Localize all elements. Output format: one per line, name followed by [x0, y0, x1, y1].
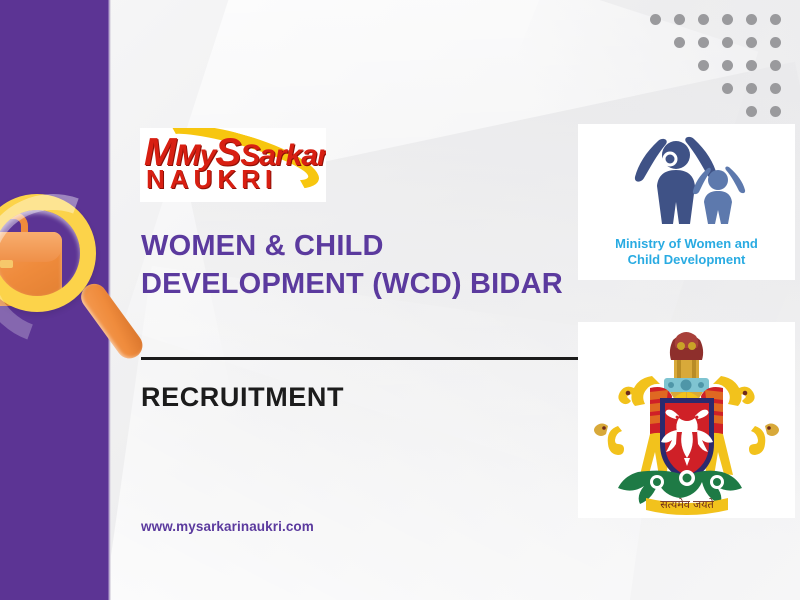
- magnifier-ring-icon: [0, 194, 96, 312]
- grid-dot: [674, 37, 685, 48]
- page-title-line-2: DEVELOPMENT (WCD) BIDAR: [141, 266, 611, 304]
- grid-dot: [746, 37, 757, 48]
- grid-dot: [698, 37, 709, 48]
- grid-dot: [770, 37, 781, 48]
- grid-dot: [650, 14, 661, 25]
- magnifying-glass-briefcase-icon: [0, 190, 132, 375]
- grid-dot: [770, 60, 781, 71]
- page-title: WOMEN & CHILD DEVELOPMENT (WCD) BIDAR: [141, 228, 611, 303]
- grid-dot: [722, 37, 733, 48]
- page-title-line-1: WOMEN & CHILD: [141, 228, 611, 266]
- grid-dot: [770, 106, 781, 117]
- poster-canvas: MMySSarkari NAUKRI WOMEN & CHILD DEVELOP…: [0, 0, 800, 600]
- website-url: www.mysarkarinaukri.com: [141, 519, 314, 534]
- wcd-ministry-logo-card: Ministry of Women and Child Development: [578, 124, 795, 280]
- wcd-figures-icon: [578, 132, 795, 232]
- grid-dot: [770, 14, 781, 25]
- grid-dot: [722, 83, 733, 94]
- motto-text: सत्यमेव जयते: [660, 498, 714, 511]
- karnataka-emblem-icon: सत्यमेव जयते: [578, 322, 795, 518]
- grid-dot: [746, 14, 757, 25]
- grid-dot: [746, 60, 757, 71]
- grid-dot: [698, 60, 709, 71]
- title-divider: [141, 357, 578, 360]
- ashoka-pillar-icon: [664, 332, 709, 400]
- grid-dot: [722, 14, 733, 25]
- karnataka-state-emblem-card: सत्यमेव जयते: [578, 322, 795, 518]
- grid-dot: [746, 106, 757, 117]
- wcd-caption-line-1: Ministry of Women and: [578, 236, 795, 252]
- grid-dot: [722, 60, 733, 71]
- wcd-caption-line-2: Child Development: [578, 252, 795, 268]
- grid-dot: [674, 14, 685, 25]
- mysarkarinaukri-logo: MMySSarkari NAUKRI: [140, 128, 326, 202]
- grid-dot: [698, 14, 709, 25]
- grid-dot: [746, 83, 757, 94]
- wcd-caption: Ministry of Women and Child Development: [578, 236, 795, 269]
- grid-dot: [770, 83, 781, 94]
- page-subtitle: RECRUITMENT: [141, 382, 344, 413]
- logo-line-2: NAUKRI: [146, 166, 322, 192]
